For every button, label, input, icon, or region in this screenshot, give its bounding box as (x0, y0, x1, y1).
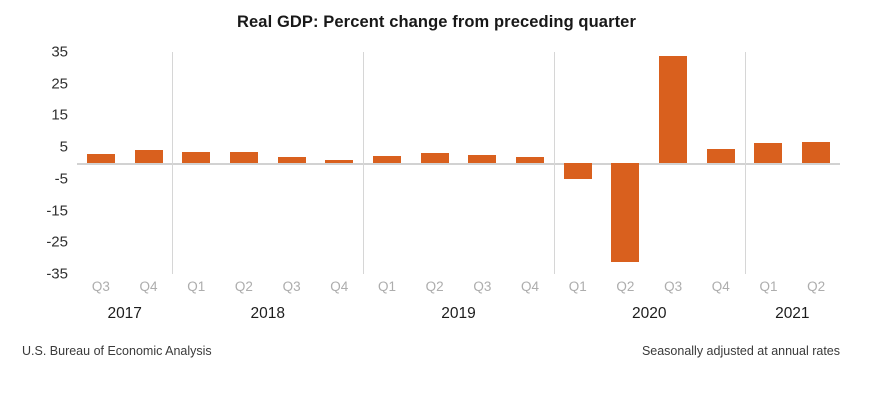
x-axis-quarter-label: Q4 (330, 279, 348, 294)
x-axis-year-label: 2021 (775, 305, 809, 323)
x-axis-year-label: 2020 (632, 305, 666, 323)
y-axis-tick: 15 (0, 107, 68, 124)
year-gridline (172, 52, 173, 274)
x-axis-quarter-label: Q4 (521, 279, 539, 294)
bar (611, 163, 639, 262)
bar (421, 153, 449, 163)
bar (182, 152, 210, 163)
y-axis-tick: 25 (0, 75, 68, 92)
footer-note: Seasonally adjusted at annual rates (642, 344, 840, 358)
x-axis-quarter-label: Q3 (473, 279, 491, 294)
x-axis-quarter-label: Q1 (378, 279, 396, 294)
x-axis-quarter-label: Q2 (426, 279, 444, 294)
chart-page: Real GDP: Percent change from preceding … (0, 0, 873, 418)
bar (754, 143, 782, 163)
y-axis-tick: 35 (0, 44, 68, 61)
x-axis-year-label: 2018 (251, 305, 285, 323)
year-gridline (363, 52, 364, 274)
x-axis-quarter-label: Q3 (283, 279, 301, 294)
x-axis-quarter-label: Q4 (712, 279, 730, 294)
y-axis-tick: -35 (0, 266, 68, 283)
page-title: Real GDP: Percent change from preceding … (0, 13, 873, 32)
bar (230, 152, 258, 163)
bar (564, 163, 592, 179)
year-gridline (554, 52, 555, 274)
year-gridline (745, 52, 746, 274)
x-axis-quarter-label: Q1 (187, 279, 205, 294)
bar (87, 154, 115, 163)
x-axis-year-label: 2017 (107, 305, 141, 323)
bar (802, 142, 830, 163)
x-axis-quarter-label: Q2 (807, 279, 825, 294)
x-axis: Q3Q4Q1Q2Q3Q4Q1Q2Q3Q4Q1Q2Q3Q4Q1Q220172018… (77, 279, 840, 339)
y-axis-tick: -5 (0, 170, 68, 187)
bar (135, 150, 163, 163)
x-axis-quarter-label: Q3 (92, 279, 110, 294)
x-axis-quarter-label: Q1 (569, 279, 587, 294)
bar (659, 56, 687, 163)
x-axis-quarter-label: Q1 (759, 279, 777, 294)
y-axis-tick: -25 (0, 234, 68, 251)
bar (516, 157, 544, 163)
bar (468, 155, 496, 163)
x-axis-quarter-label: Q3 (664, 279, 682, 294)
footer-source: U.S. Bureau of Economic Analysis (22, 344, 212, 358)
bar (325, 160, 353, 163)
x-axis-quarter-label: Q4 (140, 279, 158, 294)
bar (373, 156, 401, 163)
zero-baseline (77, 163, 840, 165)
x-axis-quarter-label: Q2 (616, 279, 634, 294)
x-axis-quarter-label: Q2 (235, 279, 253, 294)
y-axis-tick: -15 (0, 202, 68, 219)
plot-area (77, 52, 840, 274)
y-axis-tick: 5 (0, 139, 68, 156)
x-axis-year-label: 2019 (441, 305, 475, 323)
bar (278, 157, 306, 163)
bar (707, 149, 735, 163)
